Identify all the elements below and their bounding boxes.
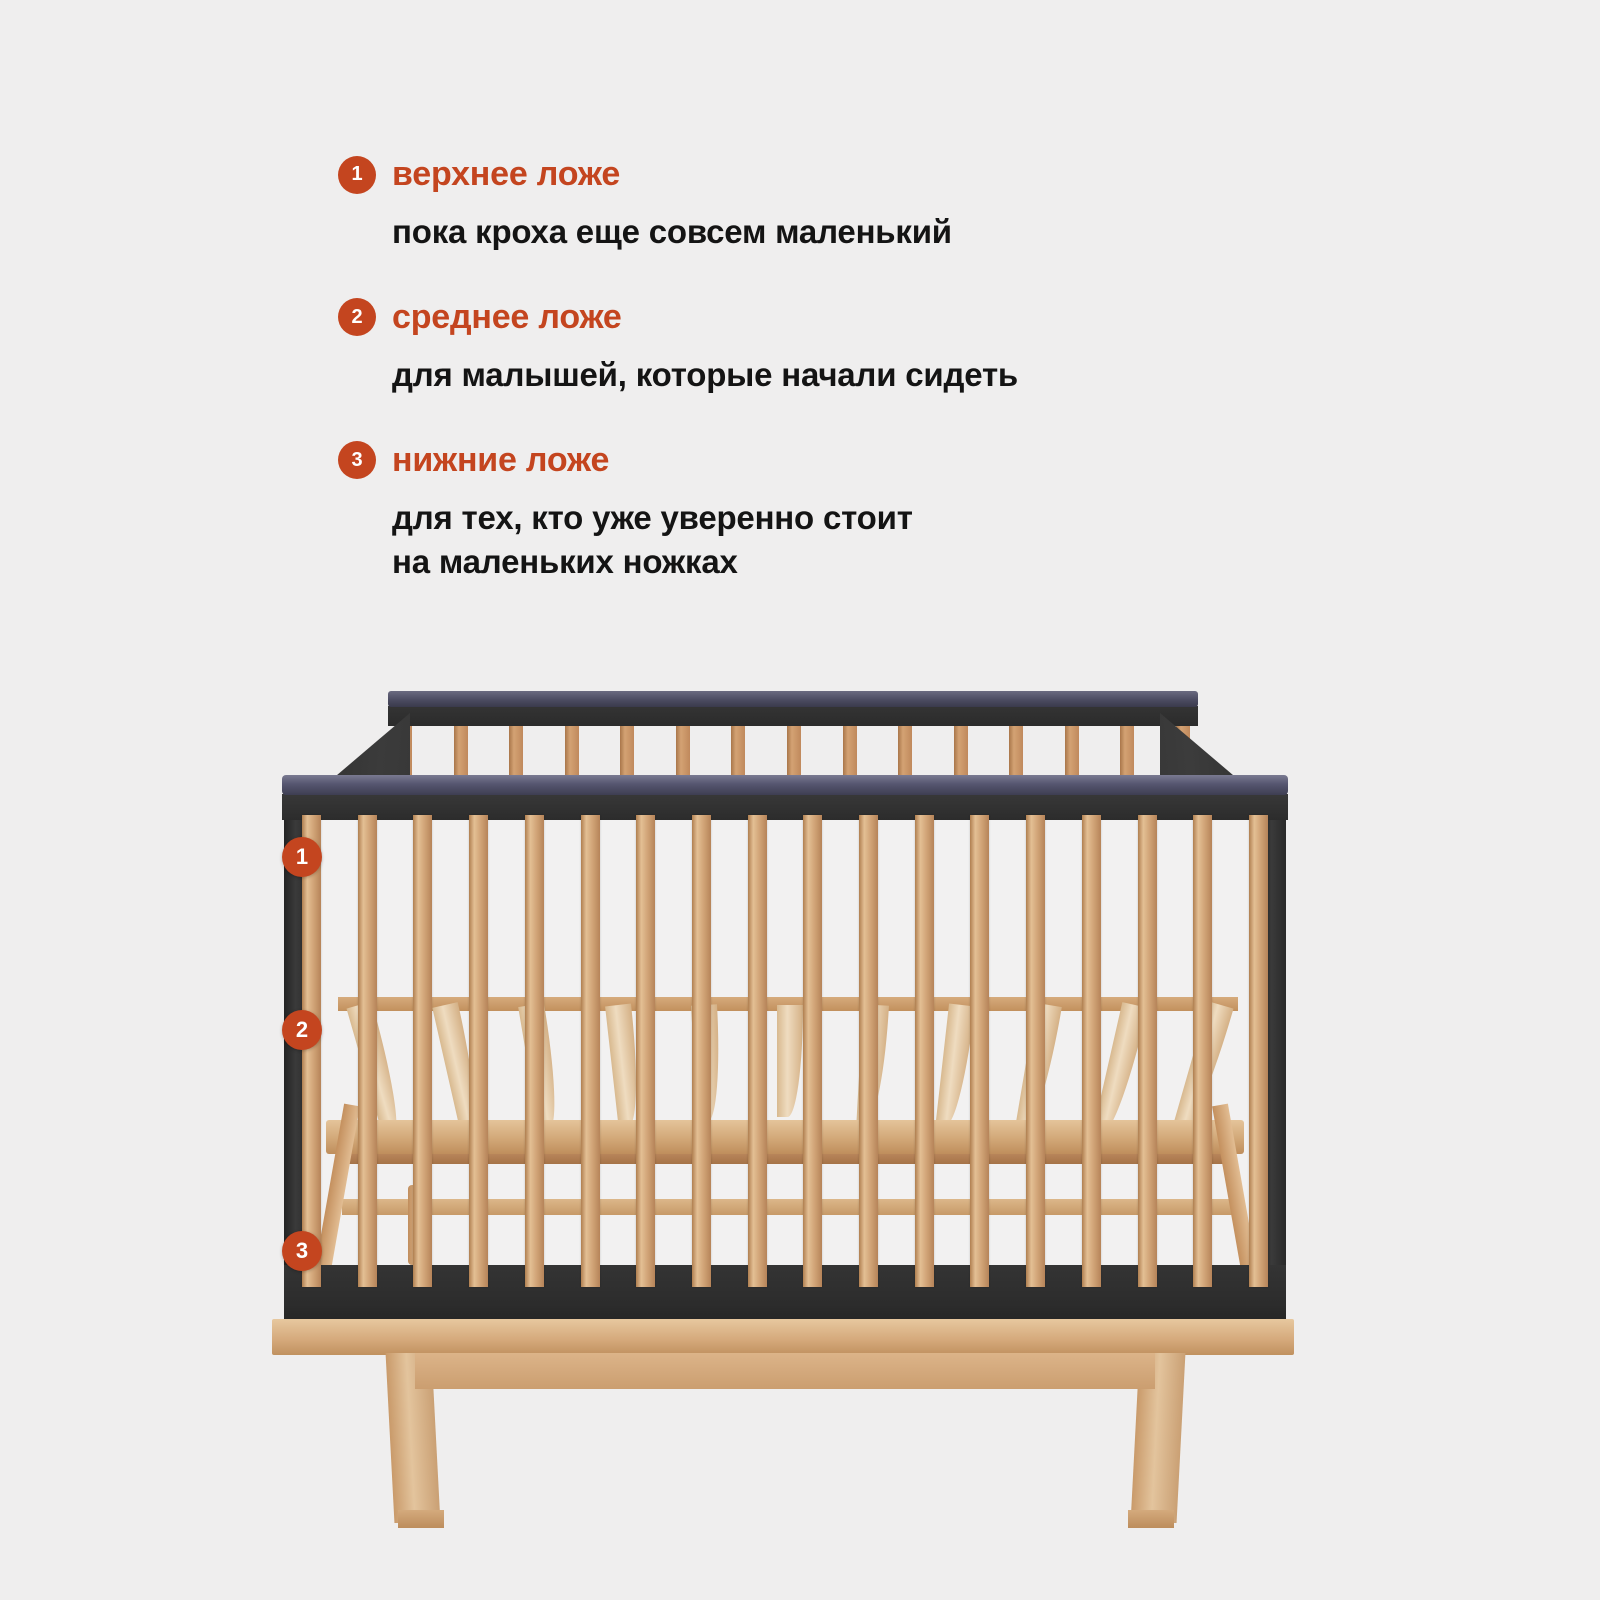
legend-item-3-description-line-1: для тех, кто уже уверенно стоит bbox=[392, 496, 1118, 540]
crib-lower-hook-right bbox=[1142, 1185, 1152, 1265]
legend-item-3-title: нижние ложе bbox=[392, 441, 609, 480]
crib-bottom-band bbox=[284, 1265, 1286, 1321]
crib-front-teething-rail bbox=[282, 775, 1288, 795]
crib-foot-right bbox=[1128, 1510, 1174, 1528]
crib-curved-slats bbox=[340, 1005, 1240, 1135]
legend-item-2-description: для малышей, которые начали сидеть bbox=[392, 353, 1118, 397]
crib-front-rail-body bbox=[282, 794, 1288, 820]
legend-item-1-description-line-1: пока кроха еще совсем маленький bbox=[392, 210, 1118, 254]
crib-illustration bbox=[280, 665, 1290, 1465]
legend-item-3: 3 нижние ложе для тех, кто уже уверенно … bbox=[338, 441, 1118, 584]
crib-back-teething-rail bbox=[388, 691, 1198, 707]
legend-item-1-header: 1 верхнее ложе bbox=[338, 155, 1118, 194]
crib-base-board bbox=[272, 1319, 1294, 1355]
crib-platform-front-beam bbox=[326, 1120, 1244, 1154]
photo-marker-1[interactable]: 1 bbox=[282, 837, 322, 877]
legend-item-3-description-line-2: на маленьких ножках bbox=[392, 540, 1118, 584]
legend-item-2-title: среднее ложе bbox=[392, 298, 622, 337]
crib-base-stretcher bbox=[415, 1353, 1155, 1389]
legend-list: 1 верхнее ложе пока кроха еще совсем мал… bbox=[338, 155, 1118, 584]
photo-marker-3[interactable]: 3 bbox=[282, 1231, 322, 1271]
crib-foot-left bbox=[398, 1510, 444, 1528]
legend-badge-1-icon: 1 bbox=[338, 156, 376, 194]
legend-item-1: 1 верхнее ложе пока кроха еще совсем мал… bbox=[338, 155, 1118, 254]
legend-item-2-description-line-1: для малышей, которые начали сидеть bbox=[392, 353, 1118, 397]
crib-back-rail-body bbox=[388, 706, 1198, 726]
legend-item-3-header: 3 нижние ложе bbox=[338, 441, 1118, 480]
crib-corner-post-right bbox=[1260, 783, 1286, 1283]
legend-item-2: 2 среднее ложе для малышей, которые нача… bbox=[338, 298, 1118, 397]
crib-lower-hook-left bbox=[408, 1185, 418, 1265]
legend-item-1-description: пока кроха еще совсем маленький bbox=[392, 210, 1118, 254]
legend-badge-3-icon: 3 bbox=[338, 441, 376, 479]
crib-platform-shelf bbox=[338, 1154, 1234, 1164]
legend-item-1-title: верхнее ложе bbox=[392, 155, 620, 194]
crib-lower-bed-rail bbox=[342, 1199, 1232, 1215]
legend-item-2-header: 2 среднее ложе bbox=[338, 298, 1118, 337]
photo-marker-2[interactable]: 2 bbox=[282, 1010, 322, 1050]
legend-item-3-description: для тех, кто уже уверенно стоит на мален… bbox=[392, 496, 1118, 584]
product-photo: 1 2 3 bbox=[0, 620, 1600, 1520]
legend-badge-2-icon: 2 bbox=[338, 298, 376, 336]
